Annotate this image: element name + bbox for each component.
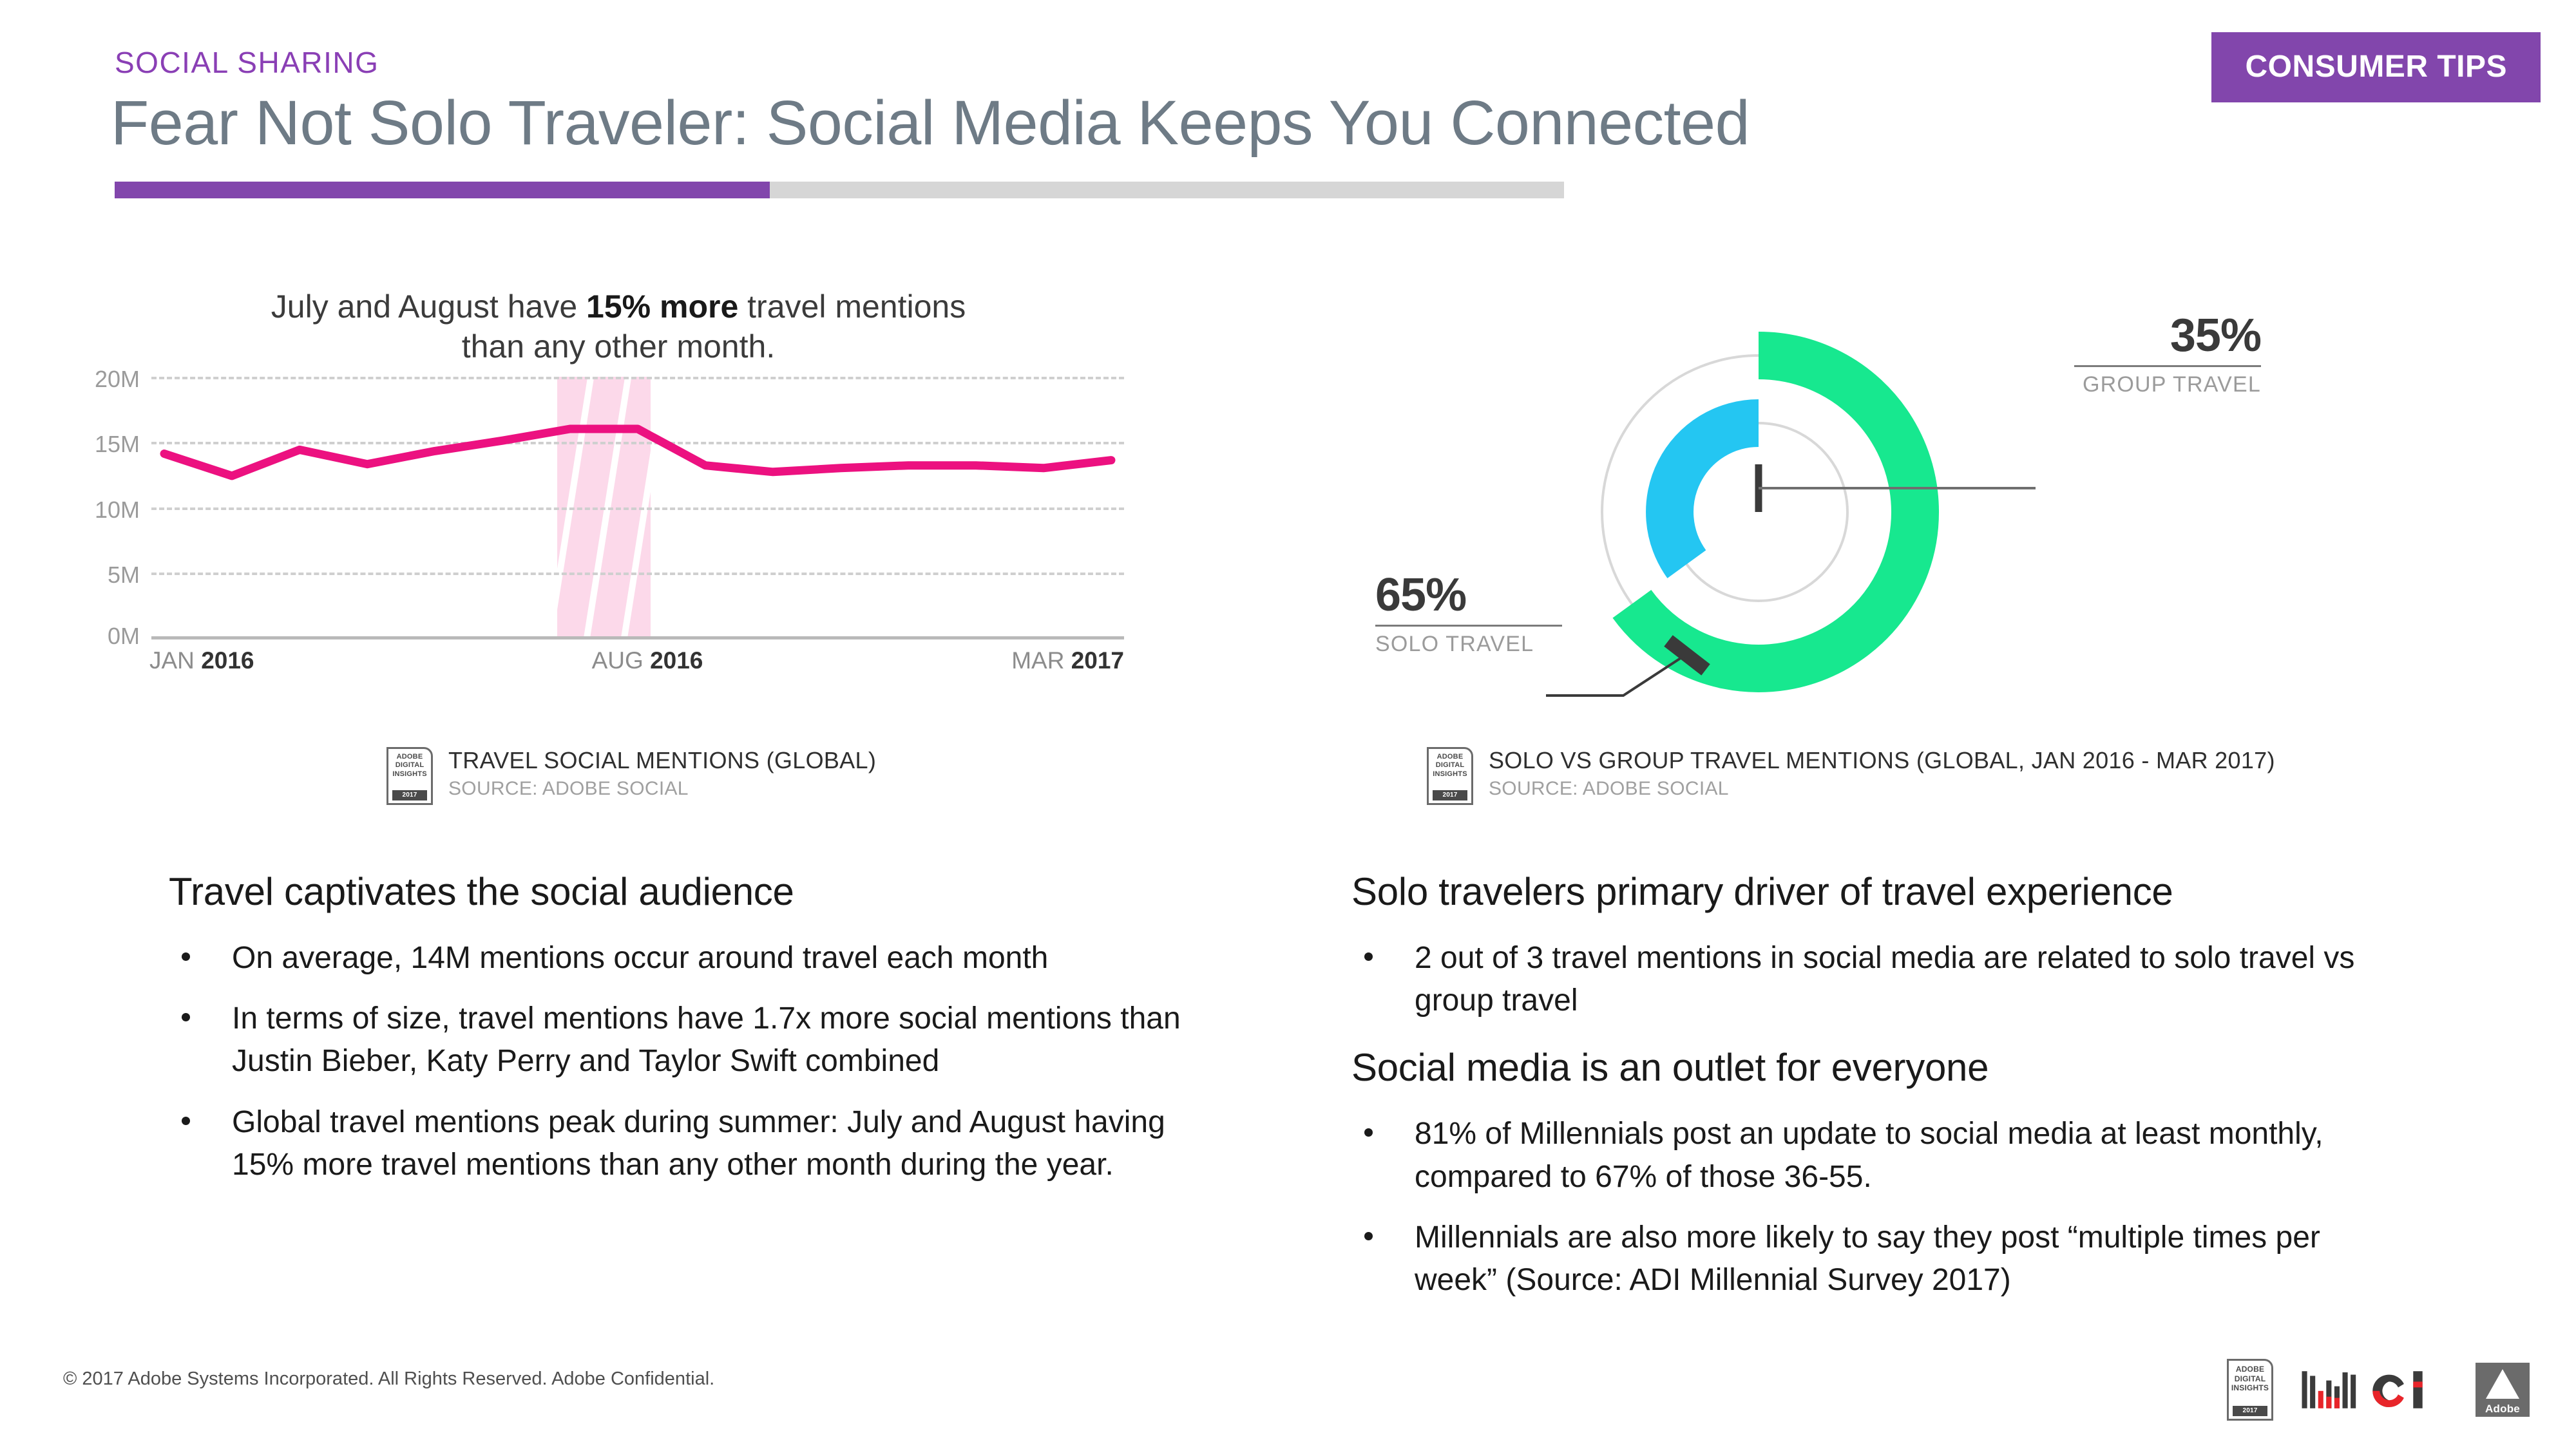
badge-line-2: DIGITAL [2229,1374,2271,1384]
solo-vs-group-donut-chart: 35% GROUP TRAVEL 65% SOLO TRAVEL [1340,270,2499,824]
adobe-digital-insights-badge-icon: ADOBE DIGITAL INSIGHTS 2017 [1427,747,1473,805]
caption-source: SOURCE: ADOBE SOCIAL [448,778,876,800]
list-item-text: In terms of size, travel mentions have 1… [232,1001,1181,1078]
page-title: Fear Not Solo Traveler: Social Media Kee… [111,87,1750,159]
line-chart-plot-area: 20M 15M 10M 5M 0M [151,377,1124,638]
donut-segment-group-travel [1670,423,1759,564]
xtick-label-aug-2016: AUG 2016 [592,647,703,674]
group-travel-name: GROUP TRAVEL [2074,372,2261,397]
donut-label-solo-travel: 65% SOLO TRAVEL [1375,572,1562,657]
bullet-dot-icon [182,1013,190,1021]
list-item: On average, 14M mentions occur around tr… [169,937,1199,980]
badge-line-2: DIGITAL [1429,761,1471,770]
ytick-label-20m: 20M [95,366,140,393]
ytick-label-15m: 15M [95,431,140,458]
caption-source: SOURCE: ADOBE SOCIAL [1489,778,2275,800]
mentions-series-line [151,377,1124,638]
solo-travel-name: SOLO TRAVEL [1375,632,1562,657]
badge-line-2: DIGITAL [388,761,431,770]
right-text-column: Solo travelers primary driver of travel … [1351,869,2395,1320]
list-item: In terms of size, travel mentions have 1… [169,998,1199,1083]
copyright-notice: © 2017 Adobe Systems Incorporated. All R… [63,1368,714,1390]
list-item: Millennials are also more likely to say … [1351,1217,2395,1302]
adobe-logo-icon: Adobe [2476,1363,2530,1417]
list-item: 81% of Millennials post an update to soc… [1351,1113,2395,1198]
bullet-dot-icon [1364,1128,1373,1137]
left-column-heading: Travel captivates the social audience [169,869,1199,914]
caption-title: SOLO VS GROUP TRAVEL MENTIONS (GLOBAL, J… [1489,747,2275,774]
badge-line-3: INSIGHTS [2229,1383,2271,1393]
list-item: 2 out of 3 travel mentions in social med… [1351,937,2395,1022]
ytick-label-0m: 0M [108,623,140,650]
badge-line-1: ADOBE [388,753,431,761]
xtick-label-mar-2017: MAR 2017 [1011,647,1124,674]
right-column-heading-1: Solo travelers primary driver of travel … [1351,869,2395,914]
adobe-digital-insights-badge-icon: ADOBE DIGITAL INSIGHTS 2017 [386,747,433,805]
ytick-label-10m: 10M [95,497,140,524]
donut-graphic [1546,283,2036,747]
annotation-bold: 15% more [586,289,738,325]
badge-year: 2017 [1433,790,1467,800]
progress-track [115,182,1564,198]
adobe-digital-insights-badge-icon: ADOBE DIGITAL INSIGHTS 2017 [2227,1359,2273,1421]
eyebrow-label: SOCIAL SHARING [115,45,379,80]
annotation-pre: July and August have [271,289,586,325]
right-column-bullet-list-1: 2 out of 3 travel mentions in social med… [1351,937,2395,1022]
ytick-label-5m: 5M [108,562,140,589]
xtick-label-jan-2016: JAN 2016 [149,647,254,674]
category-badge: CONSUMER TIPS [2211,32,2541,102]
left-column-bullet-list: On average, 14M mentions occur around tr… [169,937,1199,1186]
list-item-text: Millennials are also more likely to say … [1415,1220,2320,1297]
list-item-text: Global travel mentions peak during summe… [232,1105,1165,1182]
line-chart-caption: ADOBE DIGITAL INSIGHTS 2017 TRAVEL SOCIA… [386,747,876,805]
group-travel-percent: 35% [2074,312,2261,359]
travel-mentions-line-chart: July and August have 15% more travel men… [77,270,1198,824]
badge-line-1: ADOBE [2229,1365,2271,1374]
bullet-dot-icon [182,952,190,961]
badge-line-1: ADOBE [1429,753,1471,761]
badge-year: 2017 [2233,1406,2267,1416]
line-chart-annotation: July and August have 15% more travel men… [264,287,973,366]
donut-chart-caption: ADOBE DIGITAL INSIGHTS 2017 SOLO VS GROU… [1427,747,2275,805]
badge-line-3: INSIGHTS [1429,770,1471,779]
donut-label-group-travel: 35% GROUP TRAVEL [2074,312,2261,397]
caption-title: TRAVEL SOCIAL MENTIONS (GLOBAL) [448,747,876,774]
label-rule [2074,365,2261,367]
adobe-wordmark: Adobe [2476,1403,2530,1416]
adobe-a-glyph [2486,1369,2519,1399]
list-item-text: On average, 14M mentions occur around tr… [232,941,1048,975]
progress-fill [115,182,770,198]
bullet-dot-icon [1364,1232,1373,1240]
badge-line-3: INSIGHTS [388,770,431,779]
bullet-dot-icon [1364,952,1373,961]
right-column-bullet-list-2: 81% of Millennials post an update to soc… [1351,1113,2395,1302]
slide-header: SOCIAL SHARING Fear Not Solo Traveler: S… [0,0,2576,213]
bullet-dot-icon [182,1117,190,1125]
ci-logo-icon [2294,1367,2455,1413]
list-item: Global travel mentions peak during summe… [169,1101,1199,1186]
footer-logos: ADOBE DIGITAL INSIGHTS 2017 Adobe [2227,1359,2530,1421]
left-text-column: Travel captivates the social audience On… [169,869,1199,1204]
list-item-text: 2 out of 3 travel mentions in social med… [1415,941,2354,1018]
solo-travel-percent: 65% [1375,572,1562,618]
list-item-text: 81% of Millennials post an update to soc… [1415,1117,2323,1193]
label-rule [1375,625,1562,627]
right-column-heading-2: Social media is an outlet for everyone [1351,1045,2395,1090]
badge-year: 2017 [392,790,427,800]
